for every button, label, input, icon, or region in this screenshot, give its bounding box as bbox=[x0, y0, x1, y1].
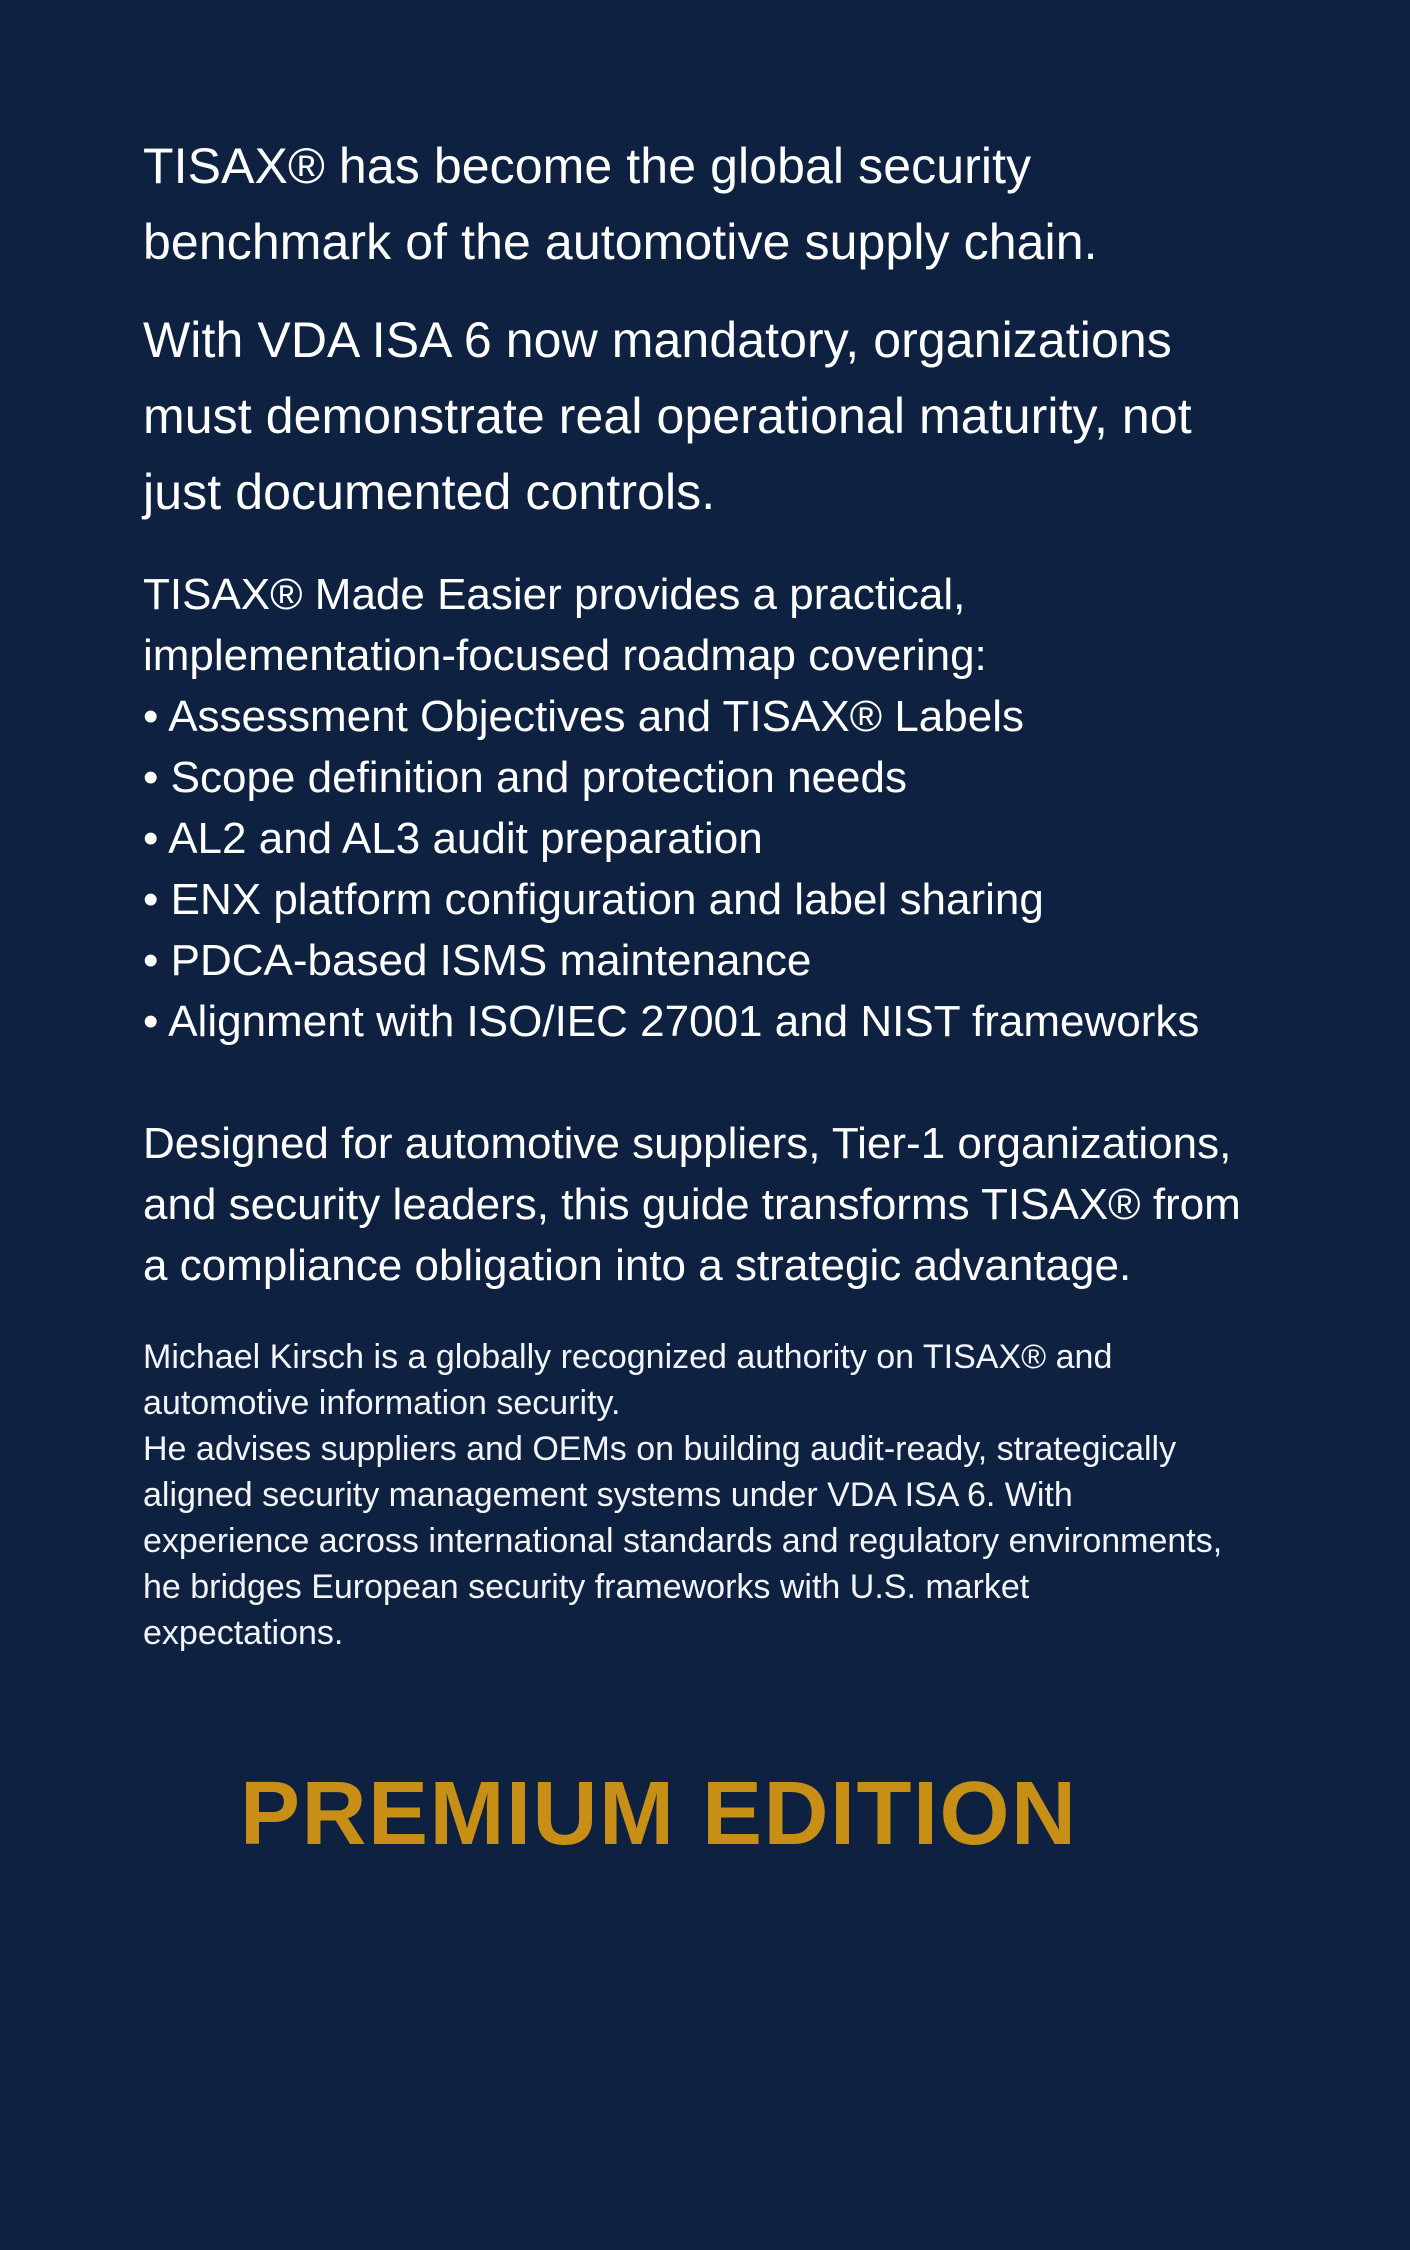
headline-primary: TISAX® has become the global security be… bbox=[143, 0, 1240, 280]
author-bio-line-3: He advises suppliers and OEMs on buildin… bbox=[143, 1426, 1240, 1472]
bullet-icon: • bbox=[143, 997, 158, 1046]
bullet-icon: • bbox=[143, 753, 158, 802]
headline-primary-line-1: TISAX® has become the global security bbox=[143, 138, 1031, 194]
audience-line-1: Designed for automotive suppliers, Tier-… bbox=[143, 1113, 1240, 1174]
list-item-label: AL2 and AL3 audit preparation bbox=[168, 814, 762, 863]
author-bio-line-5: experience across international standard… bbox=[143, 1518, 1240, 1564]
list-item: • PDCA-based ISMS maintenance bbox=[143, 930, 1240, 991]
author-bio-line-6: he bridges European security frameworks … bbox=[143, 1564, 1240, 1610]
author-bio-line-7: expectations. bbox=[143, 1610, 1240, 1656]
roadmap-intro-line-2: implementation-focused roadmap covering: bbox=[143, 625, 1240, 686]
author-bio: Michael Kirsch is a globally recognized … bbox=[143, 1296, 1240, 1656]
bullet-icon: • bbox=[143, 936, 158, 985]
list-item: • Alignment with ISO/IEC 27001 and NIST … bbox=[143, 991, 1240, 1052]
list-item-label: ENX platform configuration and label sha… bbox=[171, 875, 1044, 924]
roadmap-intro-line-1: TISAX® Made Easier provides a practical, bbox=[143, 564, 1240, 625]
headline-secondary: With VDA ISA 6 now mandatory, organizati… bbox=[143, 280, 1240, 530]
list-item-label: Scope definition and protection needs bbox=[171, 753, 907, 802]
book-back-cover: TISAX® has become the global security be… bbox=[0, 0, 1410, 2250]
bullet-icon: • bbox=[143, 692, 158, 741]
roadmap-block: TISAX® Made Easier provides a practical,… bbox=[143, 530, 1240, 1052]
headline-primary-line-2: benchmark of the automotive supply chain… bbox=[143, 214, 1098, 270]
list-item: • Assessment Objectives and TISAX® Label… bbox=[143, 686, 1240, 747]
audience-paragraph: Designed for automotive suppliers, Tier-… bbox=[143, 1052, 1240, 1296]
premium-edition-banner: PREMIUM EDITION bbox=[143, 1656, 1240, 1862]
headline-secondary-line-4: controls. bbox=[525, 464, 715, 520]
list-item: • ENX platform configuration and label s… bbox=[143, 869, 1240, 930]
list-item: • Scope definition and protection needs bbox=[143, 747, 1240, 808]
list-item: • AL2 and AL3 audit preparation bbox=[143, 808, 1240, 869]
audience-line-3: a compliance obligation into a strategic… bbox=[143, 1235, 1240, 1296]
author-bio-line-1: Michael Kirsch is a globally recognized … bbox=[143, 1334, 1240, 1380]
bullet-icon: • bbox=[143, 814, 158, 863]
author-bio-line-4: aligned security management systems unde… bbox=[143, 1472, 1240, 1518]
bullet-icon: • bbox=[143, 875, 158, 924]
audience-line-2: and security leaders, this guide transfo… bbox=[143, 1174, 1240, 1235]
list-item-label: Alignment with ISO/IEC 27001 and NIST fr… bbox=[168, 997, 1199, 1046]
list-item-label: Assessment Objectives and TISAX® Labels bbox=[168, 692, 1024, 741]
headline-secondary-line-1: With VDA ISA 6 now mandatory, bbox=[143, 312, 859, 368]
author-bio-line-2: automotive information security. bbox=[143, 1380, 1240, 1426]
list-item-label: PDCA-based ISMS maintenance bbox=[171, 936, 812, 985]
